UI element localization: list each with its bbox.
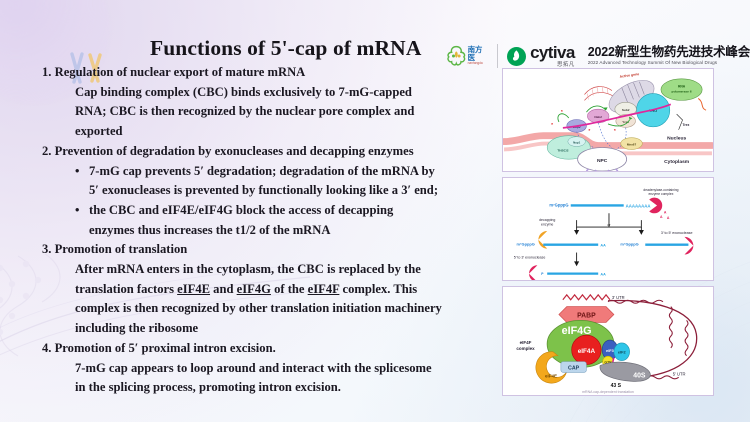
slide-root: Functions of 5'-cap of mRNA 南方医 nanfangd… <box>0 0 750 422</box>
svg-text:mRNA cap-dependent translation: mRNA cap-dependent translation <box>582 390 634 394</box>
svg-text:m⁷GpppG: m⁷GpppG <box>620 242 638 247</box>
svg-text:eIF3: eIF3 <box>606 348 615 353</box>
cap-dependent-translation-diagram[interactable]: 3′ UTR PABP eIF4G eIF4A eIF4E <box>502 286 714 396</box>
svg-text:AAAAAAAA: AAAAAAAA <box>626 203 651 208</box>
body-line-indent: RNA; CBC is then recognized by the nucle… <box>42 102 494 122</box>
svg-text:Trex: Trex <box>683 123 690 127</box>
mrna-degradation-diagram[interactable]: m⁷GpppG AAAAAAAA deadenylase-containing … <box>502 177 714 281</box>
logo-divider <box>497 44 498 68</box>
bullet-icon: • <box>75 162 89 182</box>
summit-title-block: 2022新型生物药先进技术峰会 2022 Advanced Technology… <box>588 46 750 66</box>
svg-text:A: A <box>660 215 663 219</box>
svg-text:AA: AA <box>600 273 606 277</box>
svg-text:5′ UTR: 5′ UTR <box>673 371 686 376</box>
svg-text:*: * <box>551 122 553 128</box>
svg-text:40S: 40S <box>633 372 646 379</box>
svg-text:3′ to 5′ exonuclease: 3′ to 5′ exonuclease <box>661 231 693 235</box>
svg-text:decapping: decapping <box>539 218 555 222</box>
svg-text:5′ to 3′ exonuclease: 5′ to 3′ exonuclease <box>514 255 546 259</box>
svg-text:RNA: RNA <box>678 85 686 89</box>
slide-body-text: 1. Regulation of nuclear export of matur… <box>42 63 494 398</box>
body-line-indent: exported <box>42 122 494 142</box>
svg-text:THSC/2: THSC/2 <box>557 148 568 152</box>
body-line-indent: Cap binding complex (CBC) binds exclusiv… <box>42 83 494 103</box>
body-line-numbered: 2. Prevention of degradation by exonucle… <box>42 142 494 162</box>
slide-header: Functions of 5'-cap of mRNA 南方医 nanfangd… <box>0 14 750 60</box>
svg-text:Mex67: Mex67 <box>627 143 637 147</box>
cytiva-logo: cytiva 思拓凡 <box>507 44 575 68</box>
body-line-numbered: 1. Regulation of nuclear export of matur… <box>42 63 494 83</box>
figure-panel-stack: Active gene RNA polymerase II <box>502 68 714 396</box>
body-line-indent: in the splicing process, promoting intro… <box>42 378 494 398</box>
svg-text:polymerase II: polymerase II <box>672 90 692 94</box>
body-line-indent2: enzymes thus increases the t1/2 of the m… <box>42 221 494 241</box>
svg-text:m⁷GpppG: m⁷GpppG <box>516 242 534 247</box>
summit-title-en: 2022 Advanced Technology Summit Of New B… <box>588 61 750 66</box>
svg-text:3′ UTR: 3′ UTR <box>612 295 625 300</box>
svg-text:Cytoplasm: Cytoplasm <box>664 159 690 165</box>
svg-text:deadenylase-containing: deadenylase-containing <box>643 188 678 192</box>
body-line-indent-rich: translation factors eIF4E and eIF4G of t… <box>42 280 494 300</box>
svg-text:NPC: NPC <box>597 158 608 164</box>
body-line-bullet: •7-mG cap prevents 5′ degradation; degra… <box>42 162 494 182</box>
svg-text:A: A <box>667 216 670 220</box>
nanfangda-cn: 南方医 <box>468 46 489 61</box>
svg-text:*: * <box>614 128 616 134</box>
svg-text:43 S: 43 S <box>611 383 622 389</box>
svg-text:enzyme: enzyme <box>541 223 553 227</box>
svg-text:Nab2: Nab2 <box>594 115 602 119</box>
body-line-indent: After mRNA enters in the cytoplasm, the … <box>42 260 494 280</box>
svg-text:eIF4F: eIF4F <box>520 340 532 345</box>
svg-text:enzyme complex: enzyme complex <box>648 192 673 196</box>
svg-text:complex: complex <box>516 346 535 351</box>
svg-text:AA: AA <box>600 244 606 248</box>
svg-text:PABP: PABP <box>577 312 596 319</box>
summit-title-cn: 2022新型生物药先进技术峰会 <box>588 46 750 59</box>
body-line-indent2: 5′ exonucleases is prevented by function… <box>42 181 494 201</box>
svg-text:*: * <box>588 128 590 134</box>
nuclear-export-diagram[interactable]: Active gene RNA polymerase II <box>502 68 714 172</box>
svg-text:eIF2: eIF2 <box>618 350 627 355</box>
svg-text:Sub2: Sub2 <box>622 108 630 112</box>
mrna-degradation-svg: m⁷GpppG AAAAAAAA deadenylase-containing … <box>503 178 713 280</box>
nuclear-export-svg: Active gene RNA polymerase II <box>503 69 713 171</box>
body-line-bullet: •the CBC and eIF4E/eIF4G block the acces… <box>42 201 494 221</box>
svg-text:m⁷GpppG: m⁷GpppG <box>549 202 568 207</box>
svg-text:A: A <box>664 210 667 214</box>
cytiva-name-en: cytiva <box>530 44 575 61</box>
bullet-icon: • <box>75 201 89 221</box>
body-line-indent: including the ribosome <box>42 319 494 339</box>
body-line-indent: complex is then recognized by other tran… <box>42 299 494 319</box>
svg-text:Nup1: Nup1 <box>573 141 580 145</box>
svg-text:*: * <box>561 109 563 115</box>
cytiva-wordmark: cytiva 思拓凡 <box>530 44 575 68</box>
body-line-numbered: 3. Promotion of translation <box>42 240 494 260</box>
cytiva-drop-icon <box>507 47 526 66</box>
body-line-indent: 7-mG cap appears to loop around and inte… <box>42 359 494 379</box>
svg-text:eIF4E: eIF4E <box>545 373 557 378</box>
svg-text:eIF4A: eIF4A <box>578 348 596 355</box>
translation-svg: 3′ UTR PABP eIF4G eIF4A eIF4E <box>503 287 713 395</box>
svg-text:Nucleus: Nucleus <box>667 136 686 142</box>
page-title: Functions of 5'-cap of mRNA <box>150 36 450 61</box>
body-line-numbered: 4. Promotion of 5′ proximal intron excis… <box>42 339 494 359</box>
svg-text:CAP: CAP <box>568 365 580 371</box>
